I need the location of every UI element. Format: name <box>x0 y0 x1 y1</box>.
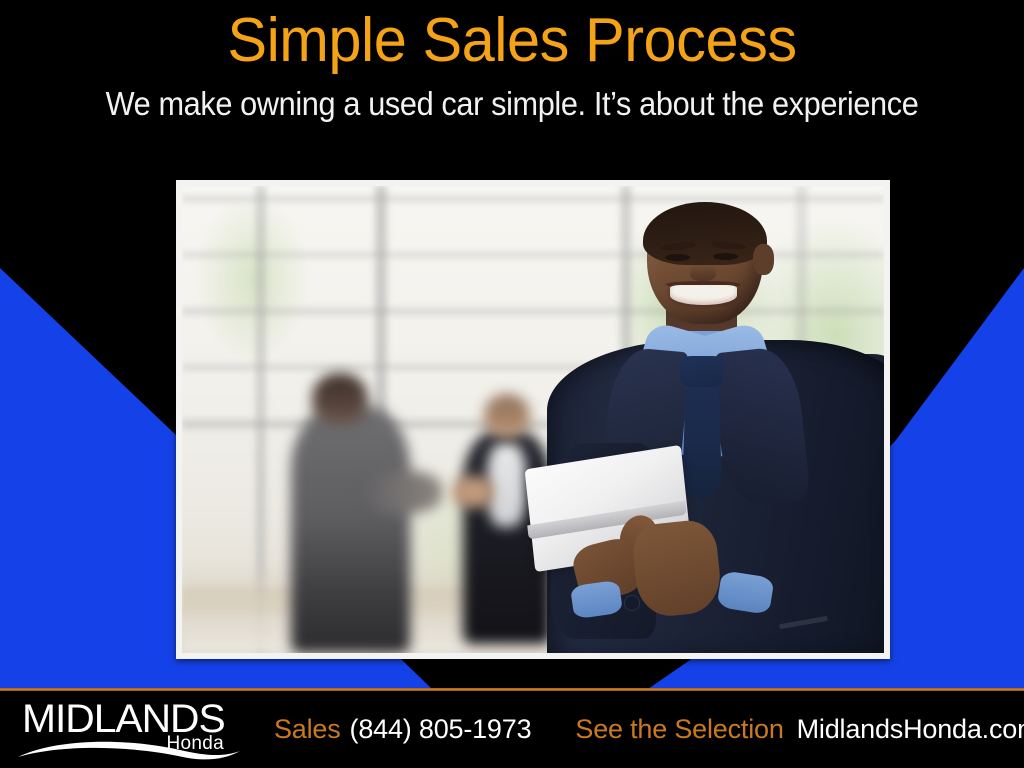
header: Simple Sales Process We make owning a us… <box>0 0 1024 172</box>
salesman-chin <box>677 305 733 319</box>
dealer-logo[interactable]: MIDLANDS Honda <box>14 697 246 763</box>
salesman-smile <box>670 285 737 305</box>
swoosh-icon <box>14 733 246 761</box>
photo-frame <box>176 180 890 659</box>
dealer-website-url[interactable]: MidlandsHonda.com <box>797 714 1024 745</box>
sales-phone-number[interactable]: (844) 805-1973 <box>350 714 532 745</box>
salesman-necktie <box>683 380 722 501</box>
salesman-tie-knot <box>680 356 724 386</box>
foreground-salesman <box>182 186 884 653</box>
page-title: Simple Sales Process <box>20 0 1003 74</box>
salesman-hair <box>643 202 768 265</box>
see-the-selection-label: See the Selection <box>575 714 783 745</box>
page-subtitle: We make owning a used car simple. It’s a… <box>36 84 988 124</box>
poster-canvas: Simple Sales Process We make owning a us… <box>0 0 1024 768</box>
salesman-nose <box>690 265 715 281</box>
sales-label: Sales <box>274 714 341 745</box>
contact-bar: Sales (844) 805-1973 See the Selection M… <box>274 714 1024 745</box>
salesman-ear <box>753 244 774 274</box>
hero-photo <box>182 186 884 653</box>
salesman-jacket-button <box>624 595 639 611</box>
footer: MIDLANDS Honda Sales (844) 805-1973 See … <box>0 688 1024 768</box>
